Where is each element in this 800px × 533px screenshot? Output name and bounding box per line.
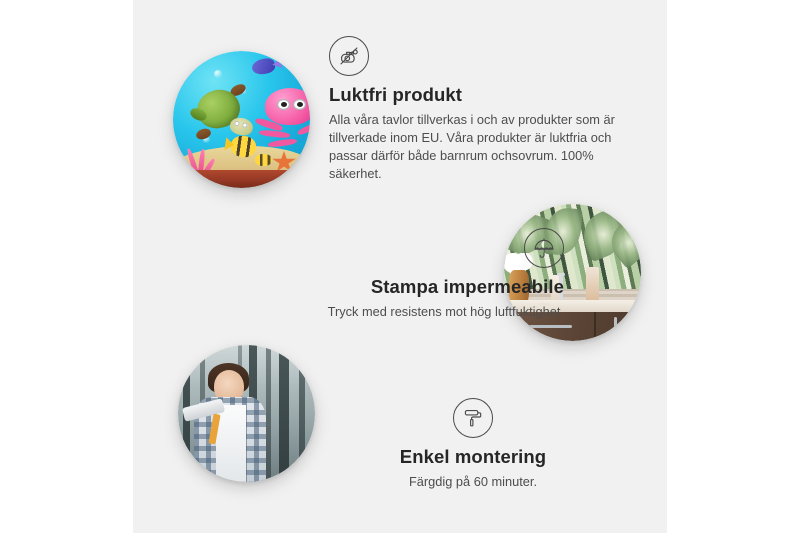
feature-description: Färgdig på 60 minuter. — [329, 473, 617, 491]
content-canvas: Luktfri produkt Alla våra tavlor tillver… — [133, 0, 667, 533]
feature-title: Enkel montering — [329, 446, 617, 468]
photo-sea-scene — [173, 51, 310, 188]
no-odor-perfume-icon — [329, 36, 369, 76]
photo-painter-scene — [178, 345, 315, 482]
paint-roller-icon — [453, 398, 493, 438]
feature-block-assembly: Enkel montering Färgdig på 60 minuter. — [329, 398, 617, 491]
shipwreck-foreground — [173, 170, 310, 188]
feature-description: Tryck med resistens mot hög luftfuktighe… — [219, 303, 564, 321]
inner-shirt — [216, 405, 246, 482]
feature-title: Stampa impermeabile — [219, 276, 564, 298]
octopus-icon — [255, 88, 310, 151]
feature-block-odorless: Luktfri produkt Alla våra tavlor tillver… — [329, 36, 617, 184]
feature-block-waterproof: Stampa impermeabile Tryck med resistens … — [219, 228, 564, 321]
feature-title: Luktfri produkt — [329, 84, 617, 106]
small-fish-icon — [255, 154, 271, 166]
feature-description: Alla våra tavlor tillverkas i och av pro… — [329, 111, 617, 184]
umbrella-icon — [524, 228, 564, 268]
promo-page: Luktfri produkt Alla våra tavlor tillver… — [0, 0, 800, 533]
turtle-icon — [192, 87, 250, 136]
